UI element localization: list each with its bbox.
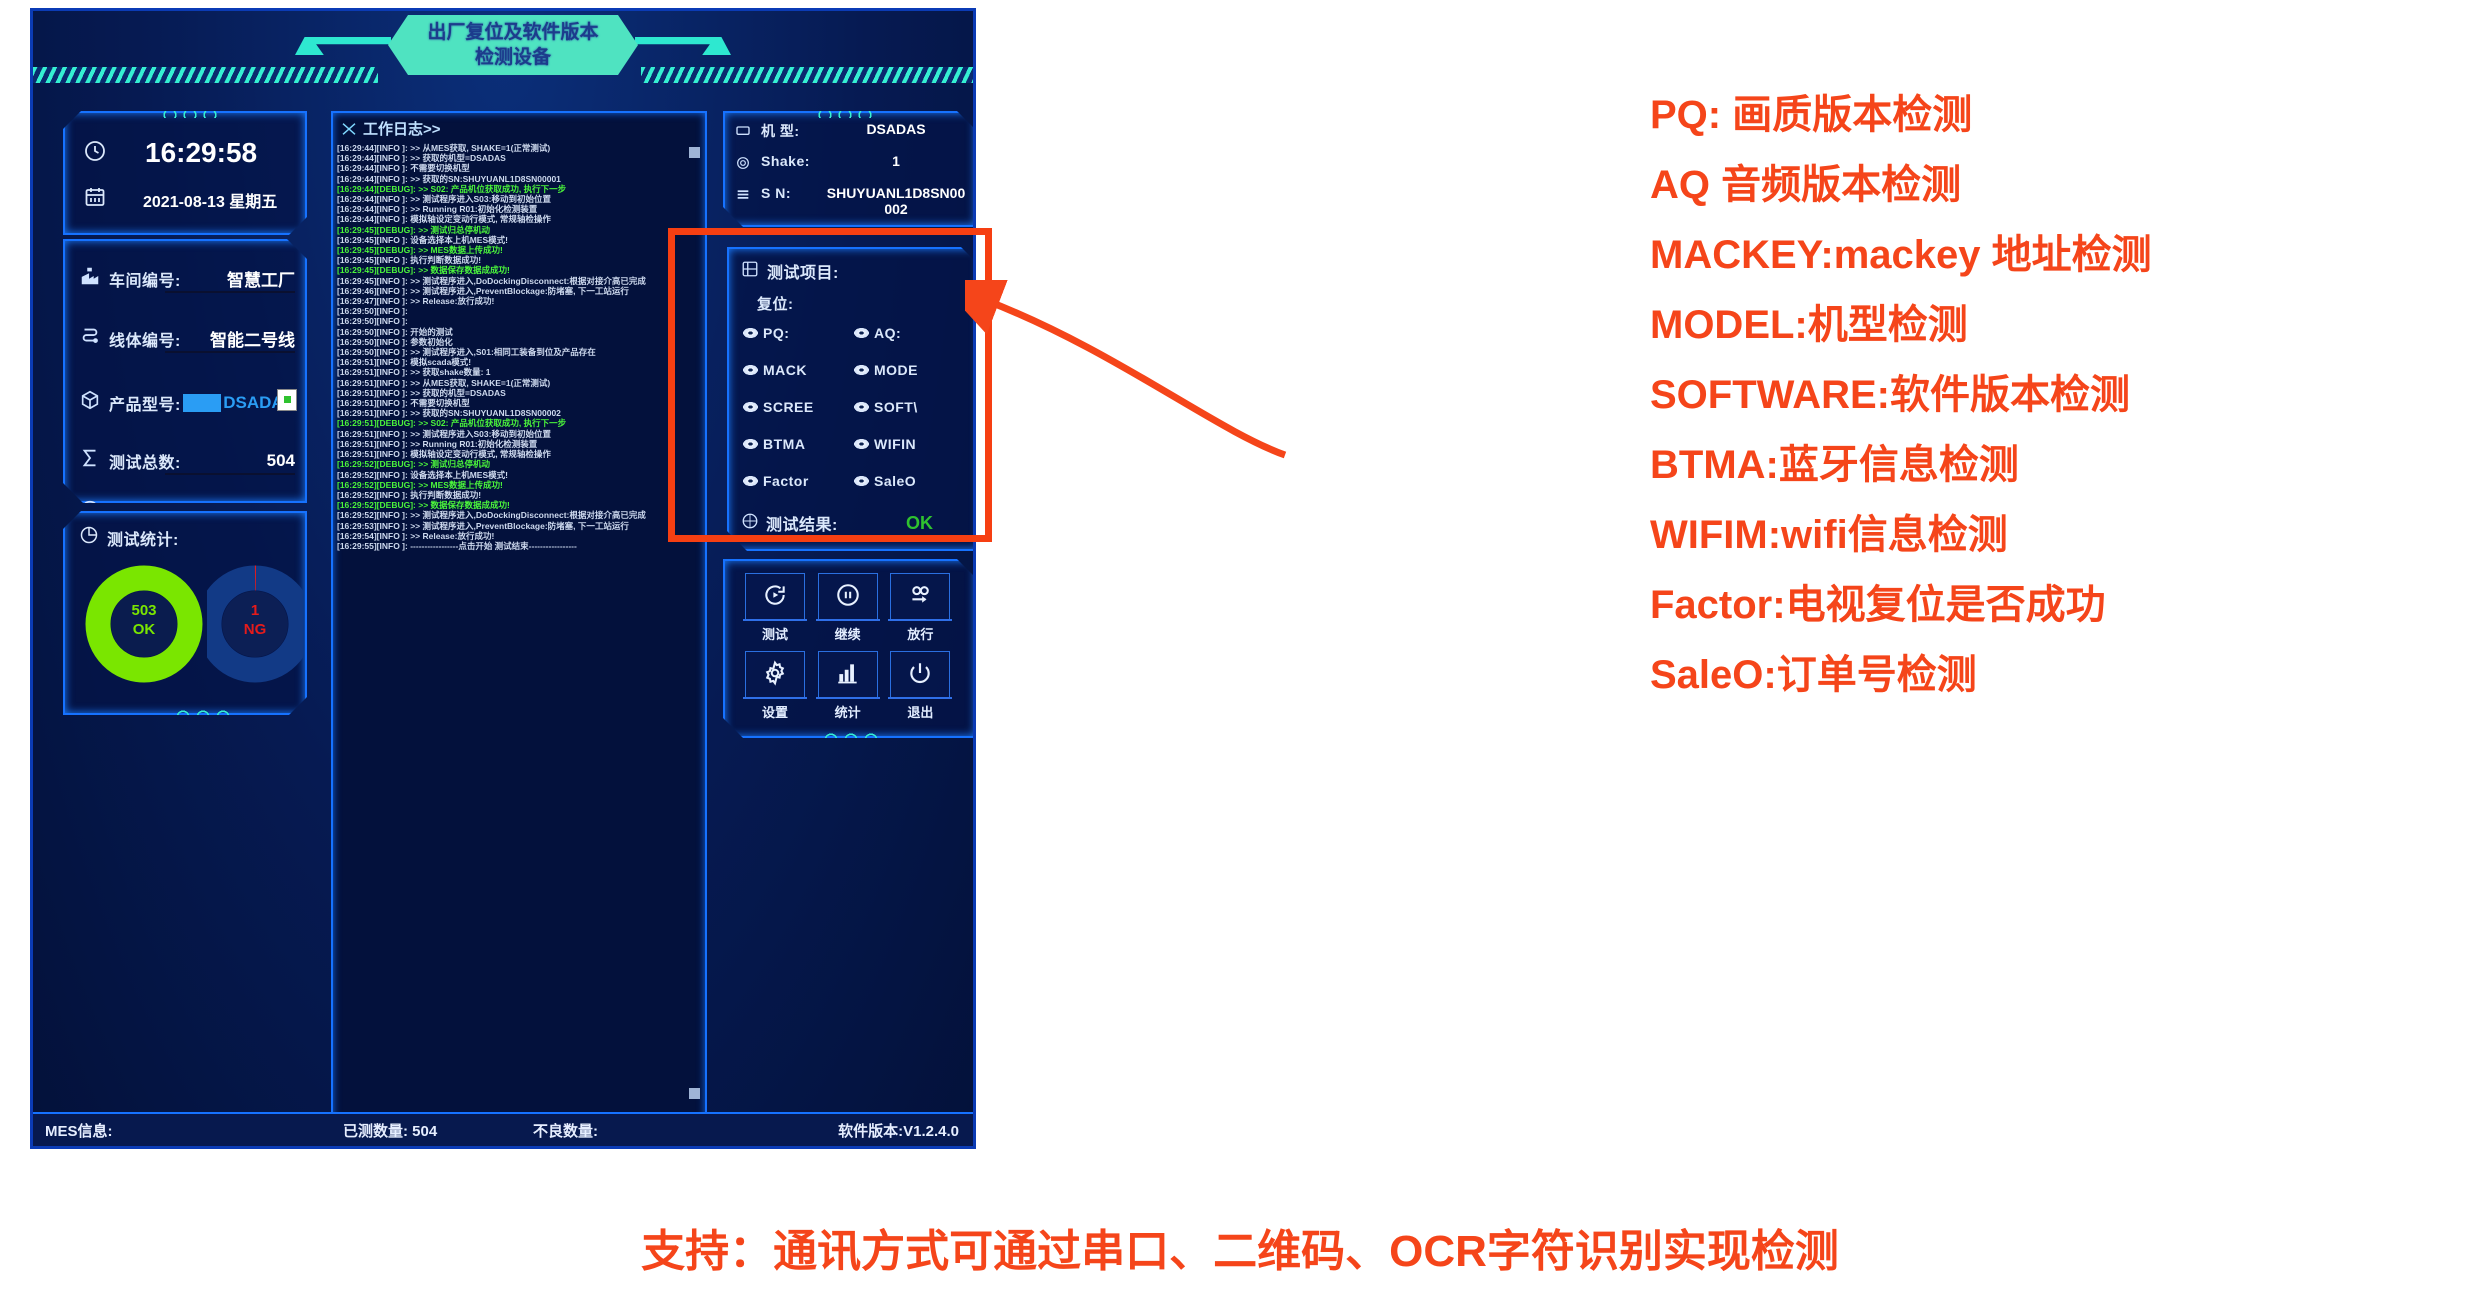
button-label: 统计 <box>814 702 882 721</box>
annotation-line: Factor:电视复位是否成功 <box>1650 585 2460 625</box>
log-line: [16:29:52][DEBUG]: >> 数据保存数据成成功! <box>337 500 701 510</box>
status-tested: 已测数量: 504 <box>343 1120 437 1141</box>
device-label: 机 型: <box>761 121 823 141</box>
device-info-panel: 机 型:DSADASShake:1S N:SHUYUANL1D8SN00002 <box>723 111 976 227</box>
info-label: 车间编号: <box>109 267 181 291</box>
log-lines: [16:29:44][INFO ]: >> 从MES获取, SHAKE=1(正常… <box>337 143 701 1103</box>
line-icon <box>79 325 101 352</box>
title-wing-left <box>295 37 391 55</box>
pie-chart-icon <box>79 525 99 550</box>
log-title: 工作日志>> <box>363 121 441 138</box>
log-line: [16:29:45][INFO ]: >> 测试程序进入,DoDockingDi… <box>337 276 701 286</box>
device-row: Shake:1 <box>735 153 969 176</box>
log-line: [16:29:44][INFO ]: >> 获取的机型=DSADAS <box>337 153 701 163</box>
info-label: 线体编号: <box>109 327 181 351</box>
list-icon <box>735 187 751 208</box>
log-line: [16:29:51][INFO ]: 模拟scada模式! <box>337 357 701 367</box>
annotation-line: WIFIM:wifi信息检测 <box>1650 515 2460 555</box>
title-line-2: 检测设备 <box>388 45 638 70</box>
device-value: SHUYUANL1D8SN00002 <box>823 185 969 217</box>
info-underline <box>165 473 295 475</box>
log-line: [16:29:51][INFO ]: >> 获取shake数量: 1 <box>337 367 701 377</box>
button-label: 继续 <box>814 624 882 643</box>
info-row: 产品型号:DSADAS <box>79 389 295 416</box>
factory-icon <box>79 265 101 292</box>
log-line: [16:29:44][INFO ]: >> Running R01:初始化检测装… <box>337 204 701 214</box>
callout-arrow <box>965 280 1295 470</box>
info-value: 智慧工厂 <box>227 266 295 291</box>
box-icon <box>79 389 101 416</box>
log-line: [16:29:47][INFO ]: >> Release:放行成功! <box>337 296 701 306</box>
log-line: [16:29:50][INFO ]: >> 测试程序进入,S01:相同工装备到位… <box>337 347 701 357</box>
footer-note: 支持：通讯方式可通过串口、二维码、OCR字符识别实现检测 <box>0 1215 2480 1279</box>
gear-icon <box>762 660 788 691</box>
info-underline <box>165 351 295 353</box>
status-bar: MES信息: 已测数量: 504 不良数量: 软件版本:V1.2.4.0 <box>33 1112 973 1146</box>
title-line-1: 出厂复位及软件版本 <box>388 20 638 45</box>
info-label: 测试总数: <box>109 449 181 473</box>
info-underline <box>165 291 295 293</box>
title-wing-right <box>635 37 731 55</box>
log-line: [16:29:44][INFO ]: 不需要切换机型 <box>337 163 701 173</box>
log-line: [16:29:55][INFO ]: -----------------点击开始… <box>337 541 701 551</box>
ok-donut-chart: 503 OK <box>85 565 203 683</box>
log-line: [16:29:52][INFO ]: 设备选择本上机MES模式! <box>337 470 701 480</box>
button-pause[interactable]: 继续 <box>814 573 882 647</box>
button-label: 设置 <box>741 702 809 721</box>
title-banner: 出厂复位及软件版本 检测设备 <box>33 11 973 83</box>
annotation-line: PQ: 画质版本检测 <box>1650 95 2460 135</box>
tv-icon <box>735 123 751 144</box>
log-line: [16:29:50][INFO ]: <box>337 306 701 316</box>
device-value: DSADAS <box>823 121 969 137</box>
log-line: [16:29:51][INFO ]: >> 测试程序进入S03:移动到初始位置 <box>337 429 701 439</box>
device-value: 1 <box>823 153 969 169</box>
button-gear[interactable]: 设置 <box>741 651 809 725</box>
ng-label: NG <box>207 620 303 639</box>
annotation-line: SaleO:订单号检测 <box>1650 655 2460 695</box>
info-row: 线体编号:智能二号线 <box>79 325 295 352</box>
clock-date: 2021-08-13 星期五 <box>143 188 277 212</box>
log-line: [16:29:51][INFO ]: 模拟轴设定变动行模式, 常规轴检操作 <box>337 449 701 459</box>
log-header: 工作日志>> <box>333 113 705 141</box>
button-label: 测试 <box>741 624 809 643</box>
log-line: [16:29:46][INFO ]: >> 测试程序进入,PreventBloc… <box>337 286 701 296</box>
shake-icon <box>735 155 751 176</box>
button-power[interactable]: 退出 <box>886 651 954 725</box>
pause-icon <box>835 582 861 613</box>
annotation-line: MODEL:机型检测 <box>1650 305 2460 345</box>
log-line: [16:29:44][INFO ]: >> 测试程序进入S03:移动到初始位置 <box>337 194 701 204</box>
test-statistics-panel: 测试统计: 503 OK 1 NG <box>63 511 307 715</box>
log-line: [16:29:45][DEBUG]: >> 数据保存数据成成功! <box>337 265 701 275</box>
button-label: 退出 <box>886 702 954 721</box>
log-line: [16:29:50][INFO ]: 开始的测试 <box>337 327 701 337</box>
clock-icon <box>83 139 107 168</box>
page-title: 出厂复位及软件版本 检测设备 <box>388 15 638 75</box>
button-restart[interactable]: 测试 <box>741 573 809 647</box>
annotation-line: SOFTWARE:软件版本检测 <box>1650 375 2460 415</box>
log-line: [16:29:50][INFO ]: 参数初始化 <box>337 337 701 347</box>
calendar-icon <box>83 185 107 214</box>
log-line: [16:29:53][INFO ]: >> 测试程序进入,PreventBloc… <box>337 521 701 531</box>
log-line: [16:29:44][DEBUG]: >> S02: 产品机位获取成功, 执行下… <box>337 184 701 194</box>
log-line: [16:29:51][INFO ]: >> 从MES获取, SHAKE=1(正常… <box>337 378 701 388</box>
ok-count: 503 <box>85 601 203 620</box>
log-line: [16:29:51][INFO ]: 不需要切换机型 <box>337 398 701 408</box>
ok-label: OK <box>85 620 203 639</box>
annotation-line: AQ 音频版本检测 <box>1650 165 2460 205</box>
log-line: [16:29:51][INFO ]: >> 获取的SN:SHUYUANL1D8S… <box>337 408 701 418</box>
clock-time: 16:29:58 <box>145 137 257 169</box>
release-icon <box>907 582 933 613</box>
control-buttons-panel: 测试继续放行设置统计退出 <box>723 559 976 738</box>
sigma-icon <box>79 447 101 474</box>
log-line: [16:29:45][INFO ]: 设备选择本上机MES模式! <box>337 235 701 245</box>
model-select-button[interactable] <box>277 389 297 411</box>
production-info-panel: 车间编号:智慧工厂线体编号:智能二号线产品型号:DSADAS测试总数:504产品… <box>63 239 307 503</box>
stats-title: 测试统计: <box>107 526 179 550</box>
model-color-swatch <box>183 394 221 412</box>
log-line: [16:29:45][DEBUG]: >> MES数据上传成功! <box>337 245 701 255</box>
log-line: [16:29:54][INFO ]: >> Release:放行成功! <box>337 531 701 541</box>
clock-panel: 16:29:58 2021-08-13 星期五 <box>63 111 307 235</box>
hatch-right <box>641 67 973 83</box>
log-line: [16:29:52][INFO ]: 执行判断数据成功! <box>337 490 701 500</box>
restart-icon <box>762 582 788 613</box>
info-row: 车间编号:智慧工厂 <box>79 265 295 292</box>
log-line: [16:29:44][INFO ]: >> 从MES获取, SHAKE=1(正常… <box>337 143 701 153</box>
button-release[interactable]: 放行 <box>886 573 954 647</box>
log-line: [16:29:45][INFO ]: 执行判断数据成功! <box>337 255 701 265</box>
info-value: 智能二号线 <box>210 326 295 351</box>
hatch-left <box>33 67 378 83</box>
device-label: S N: <box>761 185 823 201</box>
device-label: Shake: <box>761 153 823 169</box>
log-line: [16:29:52][DEBUG]: >> 测试归总停机动 <box>337 459 701 469</box>
status-defect: 不良数量: <box>533 1120 598 1141</box>
log-line: [16:29:44][INFO ]: 模拟轴设定变动行模式, 常规轴检操作 <box>337 214 701 224</box>
info-row: 测试总数:504 <box>79 447 295 474</box>
annotation-line: BTMA:蓝牙信息检测 <box>1650 445 2460 485</box>
info-value: 504 <box>267 451 295 471</box>
hmi-screen: 出厂复位及软件版本 检测设备 16:29:58 2021-08-13 星期五 车… <box>30 8 976 1149</box>
log-line: [16:29:50][INFO ]: <box>337 316 701 326</box>
button-label: 放行 <box>886 624 954 643</box>
annotation-list: PQ: 画质版本检测AQ 音频版本检测MACKEY:mackey 地址检测MOD… <box>1650 95 2460 725</box>
log-line: [16:29:45][DEBUG]: >> 测试归总停机动 <box>337 225 701 235</box>
annotation-line: MACKEY:mackey 地址检测 <box>1650 235 2460 275</box>
log-line: [16:29:51][DEBUG]: >> S02: 产品机位获取成功, 执行下… <box>337 418 701 428</box>
ng-donut-chart: 1 NG <box>207 565 303 683</box>
status-mes: MES信息: <box>45 1120 113 1141</box>
log-line: [16:29:52][INFO ]: >> 测试程序进入,DoDockingDi… <box>337 510 701 520</box>
info-label: 产品型号: <box>109 391 181 415</box>
log-line: [16:29:52][DEBUG]: >> MES数据上传成功! <box>337 480 701 490</box>
log-line: [16:29:51][INFO ]: >> 获取的机型=DSADAS <box>337 388 701 398</box>
status-version: 软件版本:V1.2.4.0 <box>838 1120 959 1141</box>
log-line: [16:29:44][INFO ]: >> 获取的SN:SHUYUANL1D8S… <box>337 174 701 184</box>
ng-count: 1 <box>207 601 303 620</box>
log-line: [16:29:51][INFO ]: >> Running R01:初始化检测装… <box>337 439 701 449</box>
highlight-box <box>668 228 992 542</box>
device-row: S N:SHUYUANL1D8SN00002 <box>735 185 969 217</box>
button-bar-chart[interactable]: 统计 <box>814 651 882 725</box>
shuffle-icon <box>341 121 357 141</box>
bar-chart-icon <box>835 660 861 691</box>
power-icon <box>907 660 933 691</box>
work-log-panel[interactable]: 工作日志>> [16:29:44][INFO ]: >> 从MES获取, SHA… <box>331 111 707 1123</box>
device-row: 机 型:DSADAS <box>735 121 969 144</box>
